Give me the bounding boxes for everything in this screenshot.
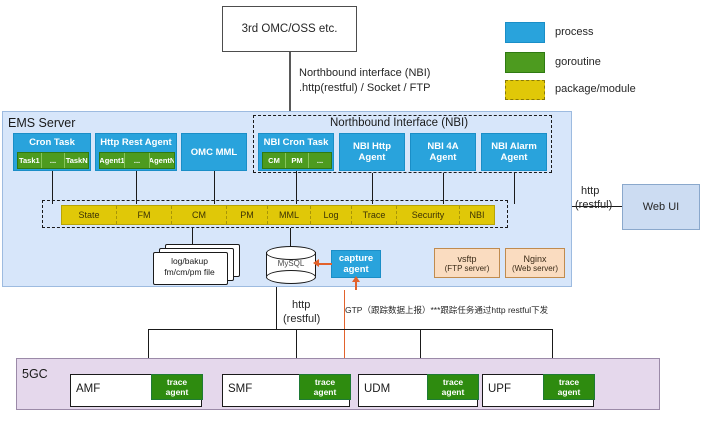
legend-label-module: package/module bbox=[555, 83, 636, 95]
module-bus: State FM CM PM MML Log Trace Security NB… bbox=[61, 205, 495, 225]
server-vsftp-line1: vsftp bbox=[457, 254, 476, 264]
legend-swatch-module bbox=[505, 80, 545, 100]
goroutine-cell: Task1 bbox=[18, 153, 42, 168]
architecture-diagram: 3rd OMC/OSS etc. Northbound interface (N… bbox=[0, 0, 705, 421]
capture-agent-line2: agent bbox=[343, 264, 368, 275]
module-cm[interactable]: CM bbox=[172, 206, 227, 224]
5gc-label: 5GC bbox=[22, 367, 48, 381]
nf-udm-label: UDM bbox=[364, 383, 390, 395]
arrow-gtp-to-capture bbox=[352, 276, 360, 282]
process-omc-mml[interactable]: OMC MML bbox=[181, 133, 247, 171]
connector-gtp-vertical bbox=[344, 290, 345, 358]
nf-smf-label: SMF bbox=[228, 383, 252, 395]
module-security[interactable]: Security bbox=[397, 206, 460, 224]
goroutine-cell: ... bbox=[42, 153, 66, 168]
goroutines-nbi-cron-task: CM PM ... bbox=[262, 152, 332, 169]
connector-capture-to-mysql bbox=[319, 263, 332, 265]
trace-agent-upf[interactable]: trace agent bbox=[543, 374, 595, 400]
trace-agent-amf-line2: agent bbox=[166, 387, 189, 397]
ems-5gc-link-label-line1: http bbox=[292, 299, 310, 312]
process-cron-task-title: Cron Task bbox=[29, 137, 75, 148]
module-log[interactable]: Log bbox=[311, 206, 352, 224]
nbi-group-title: Northbound Interface (NBI) bbox=[330, 117, 468, 129]
trace-agent-amf-line1: trace bbox=[167, 377, 187, 387]
process-nbi-http-agent-title: NBI Http Agent bbox=[343, 141, 401, 163]
trace-agent-smf-line2: agent bbox=[314, 387, 337, 397]
module-fm[interactable]: FM bbox=[117, 206, 172, 224]
module-trace[interactable]: Trace bbox=[352, 206, 397, 224]
ems-server-label: EMS Server bbox=[8, 116, 75, 130]
file-store-label-line2: fm/cm/pm file bbox=[153, 267, 226, 278]
ems-5gc-link-label-line2: (restful) bbox=[283, 313, 320, 326]
server-vsftp-line2: (FTP server) bbox=[445, 264, 490, 273]
legend-label-process: process bbox=[555, 26, 594, 38]
external-omc-oss-box: 3rd OMC/OSS etc. bbox=[222, 6, 357, 52]
arrow-capture-to-mysql bbox=[313, 259, 319, 267]
connector-bus-to-files bbox=[192, 228, 193, 244]
goroutine-cell: PM bbox=[286, 153, 309, 168]
trace-agent-udm-line2: agent bbox=[442, 387, 465, 397]
trace-agent-udm-line1: trace bbox=[443, 377, 463, 387]
process-omc-mml-title: OMC MML bbox=[191, 147, 237, 158]
legend-label-goroutine: goroutine bbox=[555, 56, 601, 68]
file-store-label-line1: log/bakup bbox=[153, 256, 226, 267]
module-nbi[interactable]: NBI bbox=[460, 206, 494, 224]
module-mml[interactable]: MML bbox=[268, 206, 311, 224]
nf-amf-label: AMF bbox=[76, 383, 100, 395]
external-omc-oss-label: 3rd OMC/OSS etc. bbox=[242, 23, 338, 35]
5gc-black-bus bbox=[148, 329, 553, 330]
webui-link-label-line1: http bbox=[581, 185, 599, 198]
webui-link-label-line2: (restful) bbox=[575, 199, 612, 212]
goroutine-cell: TaskN bbox=[65, 153, 88, 168]
process-nbi-cron-task-title: NBI Cron Task bbox=[264, 137, 329, 148]
file-store-stack: log/bakup fm/cm/pm file bbox=[152, 244, 240, 284]
goroutine-cell: ... bbox=[309, 153, 331, 168]
connector-omc-to-nbi bbox=[289, 52, 291, 111]
db-cap-top bbox=[266, 246, 316, 260]
process-nbi-alarm-agent[interactable]: NBI Alarm Agent bbox=[481, 133, 547, 171]
process-nbi-4a-agent-title: NBI 4A Agent bbox=[414, 141, 472, 163]
trace-agent-smf[interactable]: trace agent bbox=[299, 374, 351, 400]
nbi-link-label-line1: Northbound interface (NBI) bbox=[299, 67, 430, 80]
mysql-database: MySQL bbox=[266, 246, 316, 282]
goroutine-cell: AgentN bbox=[150, 153, 174, 168]
trace-agent-amf[interactable]: trace agent bbox=[151, 374, 203, 400]
nbi-link-label-line2: .http(restful) / Socket / FTP bbox=[299, 82, 430, 95]
process-nbi-alarm-agent-title: NBI Alarm Agent bbox=[484, 141, 544, 163]
module-pm[interactable]: PM bbox=[227, 206, 268, 224]
process-nbi-http-agent[interactable]: NBI Http Agent bbox=[339, 133, 405, 171]
process-http-rest-agent-title: Http Rest Agent bbox=[100, 137, 171, 148]
connector-bus-to-db bbox=[290, 228, 291, 246]
goroutine-cell: ... bbox=[125, 153, 150, 168]
legend-swatch-process bbox=[505, 22, 545, 43]
nf-upf-label: UPF bbox=[488, 383, 511, 395]
web-ui-label: Web UI bbox=[643, 201, 679, 213]
legend-swatch-goroutine bbox=[505, 52, 545, 73]
server-nginx-line2: (Web server) bbox=[512, 264, 558, 273]
trace-agent-smf-line1: trace bbox=[315, 377, 335, 387]
capture-agent-line1: capture bbox=[339, 253, 373, 264]
module-state[interactable]: State bbox=[62, 206, 117, 224]
trace-agent-upf-line1: trace bbox=[559, 377, 579, 387]
trace-agent-upf-line2: agent bbox=[558, 387, 581, 397]
goroutines-cron-task: Task1 ... TaskN bbox=[17, 152, 89, 169]
connector-ems-to-5gc-bus bbox=[276, 287, 277, 329]
gtp-note-label: GTP（跟踪数据上报）***跟踪任务通过http restful下发 bbox=[345, 304, 548, 317]
goroutines-http-rest-agent: Agent1 ... AgentN bbox=[99, 152, 175, 169]
server-nginx[interactable]: Nginx (Web server) bbox=[505, 248, 565, 278]
connector-nbi-alarm-to-bus bbox=[514, 173, 515, 204]
trace-agent-udm[interactable]: trace agent bbox=[427, 374, 479, 400]
process-capture-agent[interactable]: capture agent bbox=[331, 250, 381, 278]
server-nginx-line1: Nginx bbox=[523, 254, 546, 264]
process-nbi-4a-agent[interactable]: NBI 4A Agent bbox=[410, 133, 476, 171]
mysql-label: MySQL bbox=[266, 259, 316, 268]
web-ui-box[interactable]: Web UI bbox=[622, 184, 700, 230]
goroutine-cell: CM bbox=[263, 153, 286, 168]
server-vsftp[interactable]: vsftp (FTP server) bbox=[434, 248, 500, 278]
goroutine-cell: Agent1 bbox=[100, 153, 125, 168]
db-cap-bottom bbox=[266, 270, 316, 284]
